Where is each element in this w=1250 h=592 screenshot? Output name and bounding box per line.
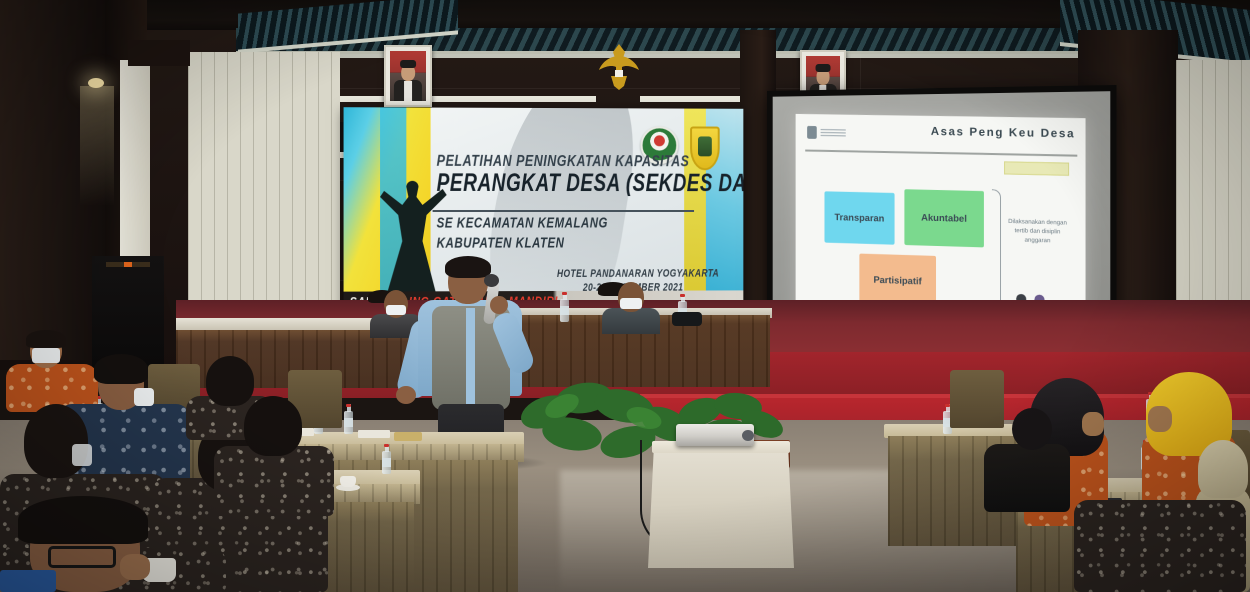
foreground-participant xyxy=(0,496,230,592)
lanyard xyxy=(0,570,56,592)
presenter-left-hand xyxy=(396,386,416,404)
notebook xyxy=(394,432,422,441)
seated-official xyxy=(598,282,664,330)
slide-brace-note: Dilaksanakan dengan tertib dan disiplin … xyxy=(1004,218,1071,247)
slide-box-transparan: Transparan xyxy=(824,191,894,244)
banner-underline xyxy=(433,210,694,212)
slide-box-akuntabel: Akuntabel xyxy=(904,189,984,247)
participant-hair xyxy=(1012,408,1052,450)
wall-pillar-cap xyxy=(128,40,190,66)
participant-torso xyxy=(214,446,334,516)
face-mask-icon xyxy=(620,298,642,309)
coffee-cup xyxy=(340,476,356,487)
participant-face xyxy=(1148,406,1172,432)
pa-speaker-power-led xyxy=(124,262,132,267)
water-bottle xyxy=(560,292,569,322)
pa-speaker-cabinet xyxy=(92,256,164,368)
slide-institution-logo-icon xyxy=(807,126,846,139)
paper-sheet xyxy=(358,430,390,438)
participant-hair xyxy=(26,330,66,348)
participant-hair xyxy=(24,404,88,478)
participant-hair xyxy=(18,496,148,544)
banner-venue: HOTEL PANDANARAN YOGYAKARTA xyxy=(557,266,719,280)
presidential-portrait xyxy=(384,45,432,107)
slide-title: Asas Peng Keu Desa xyxy=(931,126,1075,140)
participant-torso xyxy=(984,444,1070,512)
seated-participant xyxy=(214,396,338,516)
water-bottle xyxy=(344,404,353,434)
participant-hand xyxy=(120,554,150,580)
laptop-or-equipment xyxy=(672,312,702,326)
presenter-hair xyxy=(445,256,491,278)
face-mask-icon xyxy=(32,348,60,363)
banner-line-3: SE KECAMATAN KEMALANG xyxy=(437,216,608,232)
presenter-vest-opening xyxy=(466,308,475,408)
downlight-glow xyxy=(80,86,114,206)
presenter-right-hand xyxy=(490,296,508,314)
participant-hair xyxy=(94,354,148,384)
foreground-participant xyxy=(1074,478,1250,592)
slide-header-rule xyxy=(805,149,1077,156)
projector-table-cloth xyxy=(648,448,794,568)
banner-line-4: KABUPATEN KLATEN xyxy=(437,236,565,252)
microphone-head-icon xyxy=(484,274,499,287)
event-photograph: PELATIHAN PENINGKATAN KAPASITAS PERANGKA… xyxy=(0,0,1250,592)
projector-lens-icon xyxy=(742,430,754,441)
garuda-pancasila-emblem xyxy=(596,40,642,92)
face-mask-icon xyxy=(72,444,92,466)
banner-line-1: PELATIHAN PENINGKATAN KAPASITAS xyxy=(437,152,690,170)
seated-participant xyxy=(984,400,1074,512)
slide-brace xyxy=(992,189,1001,314)
participant-face xyxy=(1082,412,1104,436)
participant-hair xyxy=(244,396,302,456)
klaten-regency-shield-icon xyxy=(690,126,720,170)
participant-torso xyxy=(1074,500,1246,592)
banner-line-2: PERANGKAT DESA (SEKDES DAN KAUR) xyxy=(437,170,744,199)
eyeglasses-icon xyxy=(48,546,116,568)
slide-tag-box xyxy=(1004,161,1069,176)
water-bottle xyxy=(382,444,391,474)
